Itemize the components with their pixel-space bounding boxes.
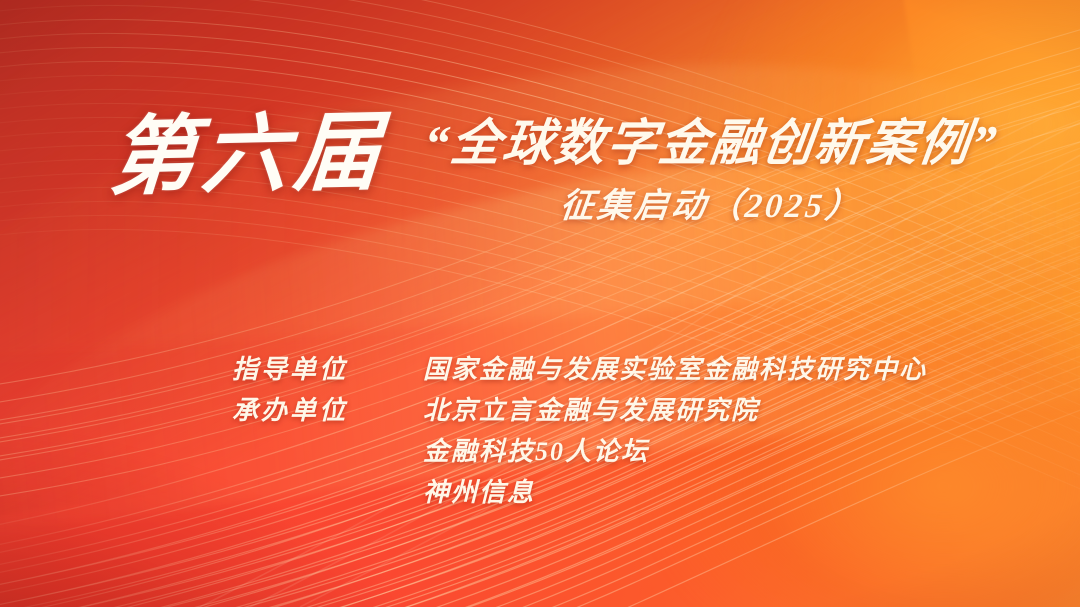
page-title: 第六届 — [107, 109, 389, 201]
credit-value-organizer: 北京立言金融与发展研究院 — [423, 396, 759, 426]
credit-value-forum: 金融科技50人论坛 — [423, 437, 649, 467]
subtitle: 征集启动（2025） — [558, 190, 864, 224]
poster-canvas: 第六届 “全球数字金融创新案例” 征集启动（2025） 指导单位 国家金融与发展… — [0, 0, 1080, 607]
quoted-title-row: “全球数字金融创新案例” — [424, 118, 998, 168]
credit-value-guidance: 国家金融与发展实验室金融科技研究中心 — [423, 355, 927, 385]
credit-label-organizer: 承办单位 — [232, 396, 348, 426]
quoted-title: “全球数字金融创新案例” — [421, 118, 1001, 168]
credit-row: 金融科技50人论坛 — [0, 437, 1080, 478]
credit-row: 承办单位 北京立言金融与发展研究院 — [0, 396, 1080, 437]
main-title-row: 第六届 — [110, 112, 386, 198]
credits-block: 指导单位 国家金融与发展实验室金融科技研究中心 承办单位 北京立言金融与发展研究… — [0, 355, 1080, 519]
credit-label-guidance: 指导单位 — [232, 355, 348, 385]
credit-row: 神州信息 — [0, 478, 1080, 519]
credit-value-shenzhou: 神州信息 — [423, 478, 535, 508]
poster-content: 第六届 “全球数字金融创新案例” 征集启动（2025） 指导单位 国家金融与发展… — [0, 0, 1080, 607]
credit-row: 指导单位 国家金融与发展实验室金融科技研究中心 — [0, 355, 1080, 396]
